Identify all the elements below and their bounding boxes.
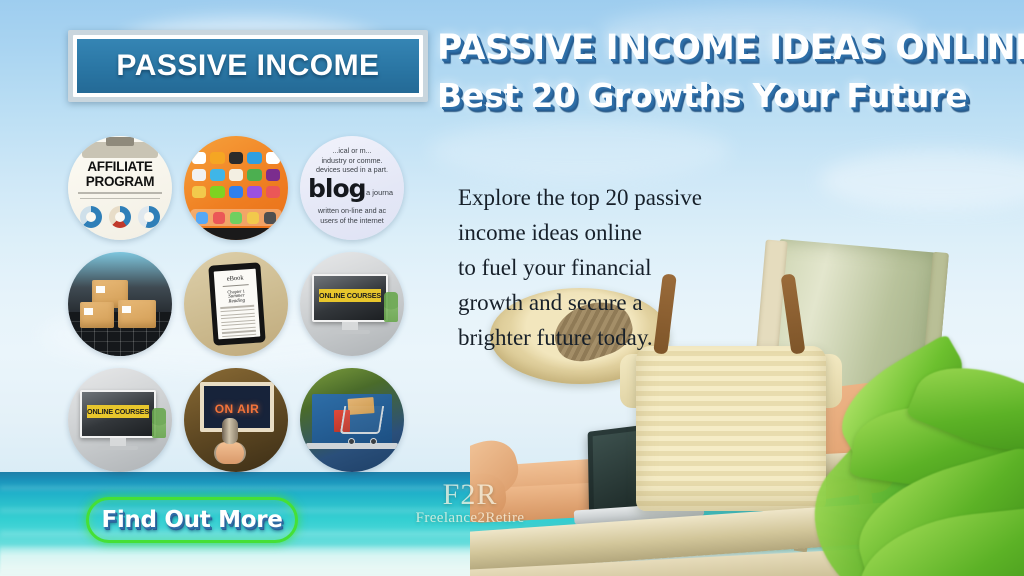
cloud (820, 150, 1024, 210)
plant-icon (152, 408, 166, 438)
blog-text-line-2: industry or comme. (304, 156, 400, 166)
blog-text-line-5: users of the internet (304, 216, 400, 226)
body-copy-line-2: income ideas online (458, 215, 788, 250)
app-icon (266, 169, 280, 181)
badge-label: PASSIVE INCOME (116, 49, 379, 83)
app-icon (229, 186, 243, 198)
thumbnail-blog[interactable]: ...ical or m... industry or comme. devic… (300, 136, 404, 240)
donut-chart-icon (80, 206, 102, 228)
monitor-icon: ONLINE COURSES (80, 390, 156, 438)
cart-wheel (348, 438, 355, 445)
app-icon (229, 152, 243, 164)
monitor-icon: ONLINE COURSES (312, 274, 388, 322)
headline: PASSIVE INCOME IDEAS ONLINE Best 20 Grow… (437, 28, 1007, 115)
body-copy-line-4: growth and secure a (458, 285, 788, 320)
find-out-more-button[interactable]: Find Out More (86, 497, 298, 543)
divider (80, 198, 160, 199)
app-icon (192, 152, 206, 164)
monitor-base (98, 446, 138, 450)
app-icon (247, 152, 261, 164)
thumbnail-dropshipping[interactable] (68, 252, 172, 356)
app-icon (210, 169, 224, 181)
plant-icon (384, 292, 398, 322)
monitor-base (330, 330, 370, 334)
blog-word: blog (308, 174, 366, 203)
cart-wheel (370, 438, 377, 445)
blog-word-suffix: a journa (366, 188, 393, 197)
palm-foliage (804, 296, 1024, 576)
app-icon (229, 169, 243, 181)
cloud (430, 120, 730, 180)
thumbnail-affiliate-program[interactable]: AFFILIATE PROGRAM (68, 136, 172, 240)
body-copy-line-5: brighter future today. (458, 320, 788, 355)
app-icon-grid (192, 152, 280, 198)
ereader-icon: eBook Chapter 1 Summer Reading (208, 262, 265, 345)
parcel-box-icon (118, 300, 156, 328)
affiliate-title-line-1: AFFILIATE (68, 160, 172, 175)
app-icon (196, 212, 208, 224)
phone-bezel (184, 228, 288, 240)
ebook-screen-title: eBook (218, 274, 252, 283)
app-icon (192, 186, 206, 198)
monitor-stand (342, 322, 358, 330)
app-icon (264, 212, 276, 224)
affiliate-title-line-2: PROGRAM (68, 175, 172, 190)
shopping-cart-icon (340, 406, 384, 434)
body-copy: Explore the top 20 passive income ideas … (458, 180, 788, 355)
app-icon (192, 169, 206, 181)
promo-banner: PASSIVE INCOME PASSIVE INCOME IDEAS ONLI… (0, 0, 1024, 576)
idea-thumbnail-grid: AFFILIATE PROGRAM (68, 136, 418, 486)
donut-chart-row (76, 206, 164, 228)
app-icon (210, 186, 224, 198)
blog-text-bottom: written on-line and ac users of the inte… (304, 206, 400, 225)
thumbnail-online-courses[interactable]: ONLINE COURSES (300, 252, 404, 356)
microphone-icon (222, 418, 238, 444)
ebook-chapter-title: Summer Reading (219, 293, 254, 305)
donut-chart-icon (109, 206, 131, 228)
parcel-box-icon (80, 302, 114, 328)
thumbnail-online-courses-2[interactable]: ONLINE COURSES (68, 368, 172, 472)
headline-line-1: PASSIVE INCOME IDEAS ONLINE (437, 28, 998, 68)
thumbnail-ebook[interactable]: eBook Chapter 1 Summer Reading (184, 252, 288, 356)
find-out-more-label: Find Out More (101, 507, 282, 533)
body-copy-line-1: Explore the top 20 passive (458, 180, 788, 215)
passive-income-badge: PASSIVE INCOME (68, 30, 428, 102)
divider (78, 192, 162, 194)
app-dock (190, 209, 282, 226)
body-copy-line-3: to fuel your financial (458, 250, 788, 285)
online-courses-label: ONLINE COURSES (319, 291, 381, 300)
app-icon (213, 212, 225, 224)
blog-text-line-1: ...ical or m... (304, 146, 400, 156)
headline-line-2: Best 20 Growths Your Future (437, 76, 1007, 115)
app-icon (210, 152, 224, 164)
app-icon (247, 186, 261, 198)
on-air-label: ON AIR (204, 402, 270, 416)
blog-text-top: ...ical or m... industry or comme. devic… (304, 146, 400, 175)
thumbnail-podcast[interactable]: ON AIR (184, 368, 288, 472)
clipboard-icon (82, 142, 158, 158)
thumbnail-mobile-apps[interactable] (184, 136, 288, 240)
mic-stand (214, 442, 246, 464)
blog-text-line-4: written on-line and ac (304, 206, 400, 216)
app-icon (266, 186, 280, 198)
app-icon (266, 152, 280, 164)
app-icon (230, 212, 242, 224)
online-courses-label-2: ONLINE COURSES (87, 407, 149, 416)
divider (223, 284, 249, 287)
donut-chart-icon (138, 206, 160, 228)
app-icon (247, 169, 261, 181)
thumbnail-ecommerce[interactable] (300, 368, 404, 472)
monitor-stand (110, 438, 126, 446)
beach-bag (636, 346, 826, 511)
app-icon (247, 212, 259, 224)
